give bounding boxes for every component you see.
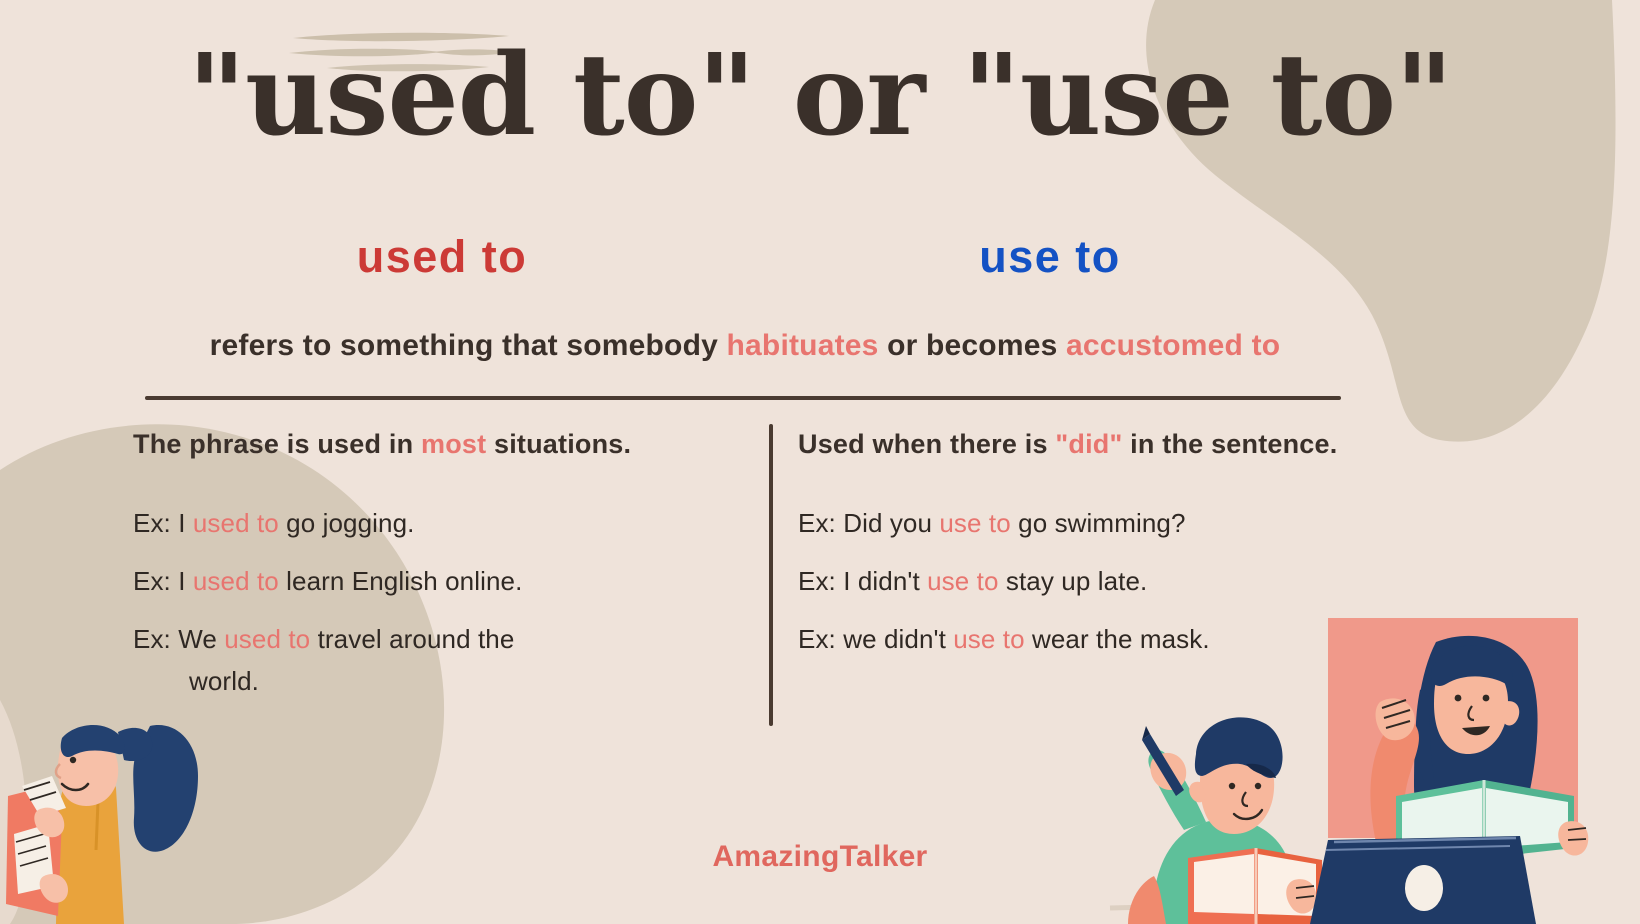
example-highlight: used to (193, 566, 279, 596)
left-column: The phrase is used in most situations. E… (133, 428, 753, 726)
list-item: Ex: Did you use to go swimming? (798, 510, 1478, 536)
example-continuation: world. (189, 668, 753, 694)
right-rule-suffix: in the sentence. (1122, 429, 1337, 459)
left-rule-suffix: situations. (486, 429, 631, 459)
vertical-divider (769, 424, 773, 726)
page-title: "used to" or "use to" (0, 40, 1640, 152)
example-highlight: use to (927, 566, 998, 596)
example-prefix: Ex: We (133, 624, 224, 654)
example-highlight: used to (224, 624, 310, 654)
definition-highlight-habituates: habituates (727, 329, 879, 362)
example-prefix: Ex: I (133, 508, 193, 538)
definition-highlight-accustomed-to: accustomed to (1066, 329, 1280, 362)
heading-used-to: used to (147, 231, 737, 283)
example-prefix: Ex: I (133, 566, 193, 596)
horizontal-divider (145, 396, 1341, 400)
left-example-list: Ex: I used to go jogging. Ex: I used to … (133, 510, 753, 694)
definition-part-2: or becomes (879, 329, 1066, 362)
right-rule-highlight: "did" (1055, 429, 1122, 459)
example-suffix: travel around the (310, 624, 514, 654)
example-highlight: use to (939, 508, 1010, 538)
definition-line: refers to something that somebody habitu… (140, 329, 1350, 363)
list-item: Ex: I used to go jogging. (133, 510, 753, 536)
left-rule-highlight: most (421, 429, 486, 459)
example-suffix: learn English online. (279, 566, 523, 596)
example-prefix: Ex: Did you (798, 508, 939, 538)
example-prefix: Ex: I didn't (798, 566, 927, 596)
brand-logo-text: AmazingTalker (0, 840, 1640, 874)
heading-use-to: use to (800, 231, 1300, 283)
definition-part-1: refers to something that somebody (210, 329, 727, 362)
example-suffix: go swimming? (1011, 508, 1186, 538)
left-rule-prefix: The phrase is used in (133, 429, 421, 459)
example-suffix: go jogging. (279, 508, 415, 538)
example-highlight: used to (193, 508, 279, 538)
right-rule-heading: Used when there is "did" in the sentence… (798, 428, 1478, 462)
left-rule-heading: The phrase is used in most situations. (133, 428, 753, 462)
list-item: Ex: We used to travel around theworld. (133, 626, 753, 694)
example-highlight: use to (953, 624, 1024, 654)
example-prefix: Ex: we didn't (798, 624, 953, 654)
girl-reading-book-icon (0, 690, 240, 924)
right-rule-prefix: Used when there is (798, 429, 1055, 459)
list-item: Ex: I used to learn English online. (133, 568, 753, 594)
